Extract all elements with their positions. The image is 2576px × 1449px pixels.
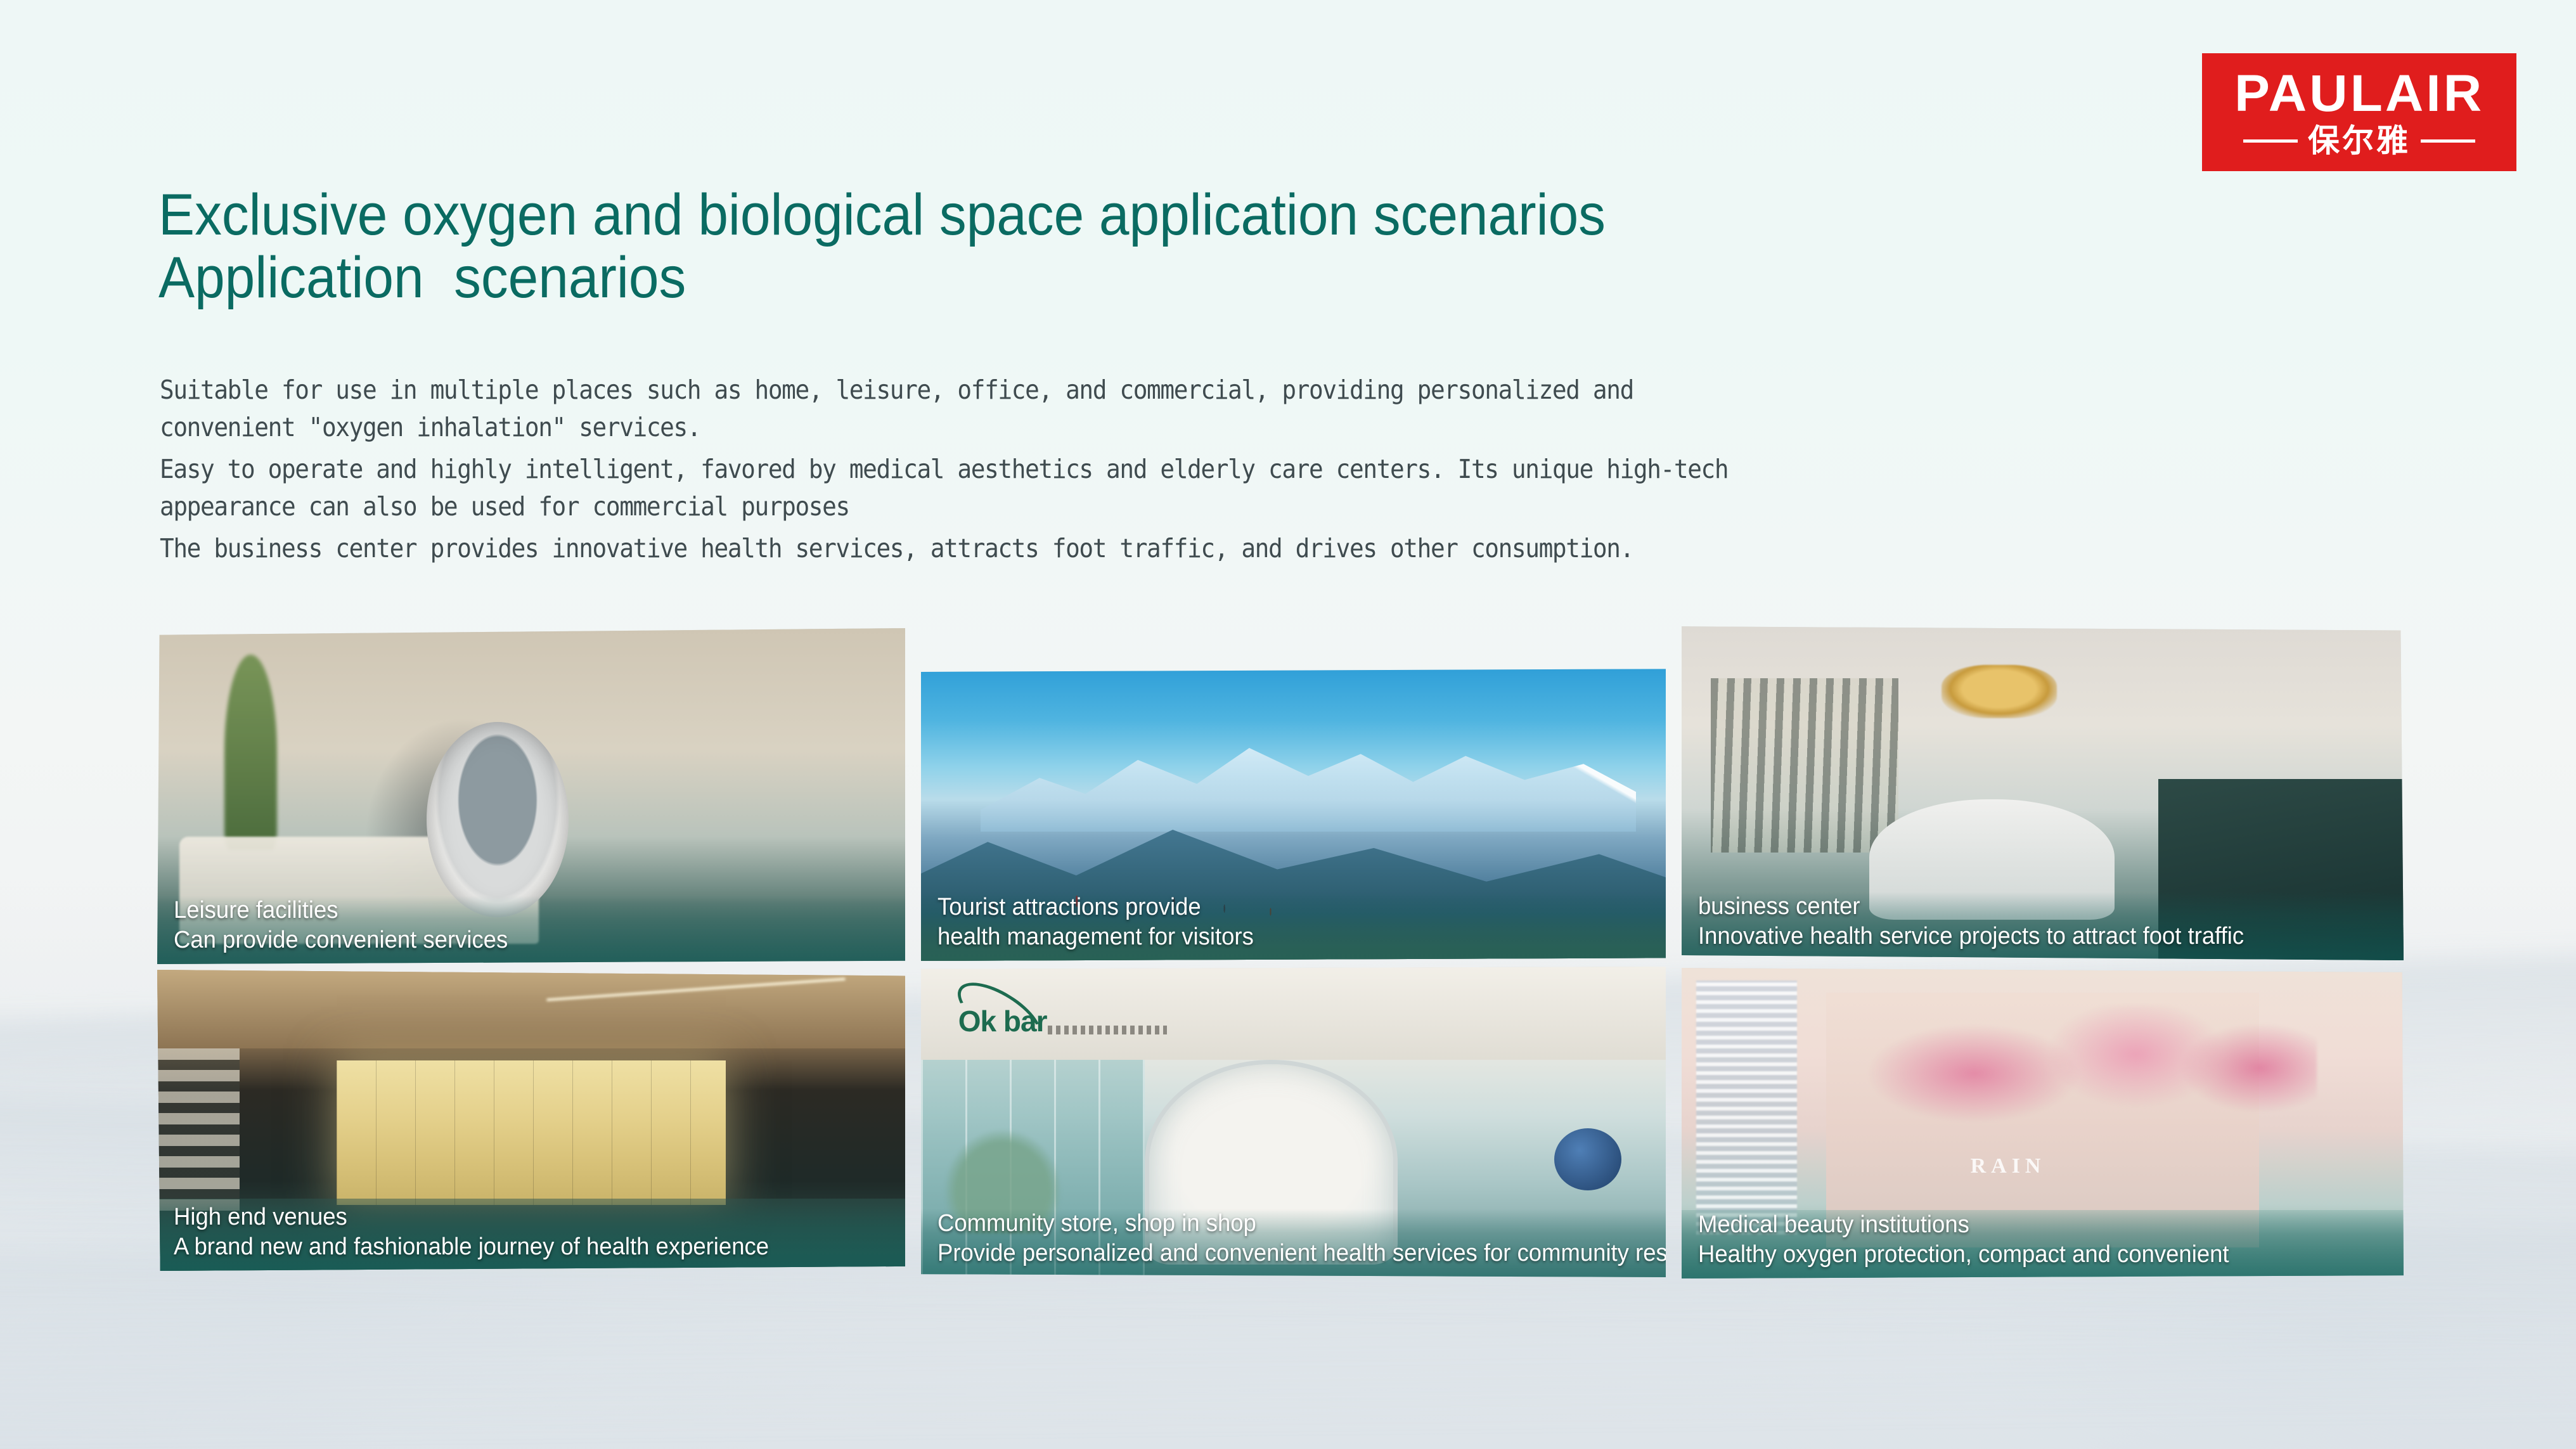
caption-tourist-attractions: Tourist attractions provide health manag…: [921, 892, 1666, 961]
gallery-tile-high-end-venues[interactable]: High end venues A brand new and fashiona…: [157, 970, 905, 1271]
page-title: Exclusive oxygen and biological space ap…: [158, 184, 1715, 310]
paulair-logo: PAULAIR 保尔雅: [2202, 53, 2516, 171]
caption-title: Leisure facilities: [174, 896, 876, 925]
caption-title: business center: [1698, 892, 2375, 922]
photo-okbar-sign: Ok bar: [958, 1004, 1047, 1038]
photo-wall-blocks: [157, 1048, 240, 1211]
gallery-tile-medical-beauty[interactable]: RAIN Medical beauty institutions Healthy…: [1682, 968, 2404, 1278]
photo-mirror-panels: [1711, 678, 1898, 853]
title-line-2: Application scenarios: [158, 247, 1606, 309]
photo-clinic-brandmark: RAIN: [1971, 1154, 2046, 1178]
body-text: Suitable for use in multiple places such…: [160, 371, 1909, 571]
logo-chinese-row: 保尔雅: [2243, 125, 2475, 157]
caption-medical-beauty: Medical beauty institutions Healthy oxyg…: [1682, 1210, 2404, 1278]
gallery-tile-business-center[interactable]: business center Innovative health servic…: [1682, 624, 2404, 960]
caption-high-end-venues: High end venues A brand new and fashiona…: [157, 1202, 905, 1271]
body-paragraph-1: Suitable for use in multiple places such…: [160, 371, 1769, 447]
photo-snow-peaks: [981, 732, 1636, 832]
caption-subtitle: A brand new and fashionable journey of h…: [174, 1232, 876, 1262]
caption-subtitle: Can provide convenient services: [174, 925, 876, 955]
photo-globe-graphic: [1554, 1128, 1621, 1190]
gallery-tile-tourist-attractions[interactable]: Tourist attractions provide health manag…: [921, 667, 1666, 961]
photo-backlit-onyx-wall: [337, 1060, 726, 1205]
logo-rule-right: [2421, 139, 2475, 143]
caption-business-center: business center Innovative health servic…: [1682, 892, 2404, 960]
gallery-tile-community-store[interactable]: Ok bar Community store, shop in shop Pro…: [921, 967, 1666, 1277]
photo-pink-ribbon-art: [1841, 1005, 2317, 1142]
gallery-tile-leisure-facilities[interactable]: Leisure facilities Can provide convenien…: [157, 628, 905, 964]
caption-subtitle: health management for visitors: [937, 922, 1637, 952]
caption-subtitle: Provide personalized and convenient heal…: [937, 1239, 1637, 1268]
caption-title: Medical beauty institutions: [1698, 1210, 2375, 1240]
scenario-gallery: Leisure facilities Can provide convenien…: [157, 624, 2404, 1296]
body-paragraph-3: The business center provides innovative …: [160, 530, 1769, 567]
slide-canvas: PAULAIR 保尔雅 Exclusive oxygen and biologi…: [0, 0, 2576, 1449]
photo-gold-chandelier: [1942, 665, 2057, 719]
photo-crystal-chandelier: [1696, 981, 1797, 1235]
caption-community-store: Community store, shop in shop Provide pe…: [921, 1209, 1666, 1277]
logo-rule-left: [2243, 139, 2298, 143]
caption-title: Tourist attractions provide: [937, 892, 1637, 922]
caption-subtitle: Healthy oxygen protection, compact and c…: [1698, 1240, 2375, 1270]
body-paragraph-2: Easy to operate and highly intelligent, …: [160, 451, 1769, 526]
photo-store-subsign: [1048, 1026, 1167, 1034]
caption-title: High end venues: [174, 1202, 876, 1232]
caption-title: Community store, shop in shop: [937, 1209, 1637, 1239]
caption-subtitle: Innovative health service projects to at…: [1698, 922, 2375, 951]
logo-wordmark: PAULAIR: [2234, 68, 2484, 120]
logo-chinese-name: 保尔雅: [2308, 125, 2411, 157]
title-line-1: Exclusive oxygen and biological space ap…: [158, 184, 1606, 247]
caption-leisure-facilities: Leisure facilities Can provide convenien…: [157, 896, 905, 964]
